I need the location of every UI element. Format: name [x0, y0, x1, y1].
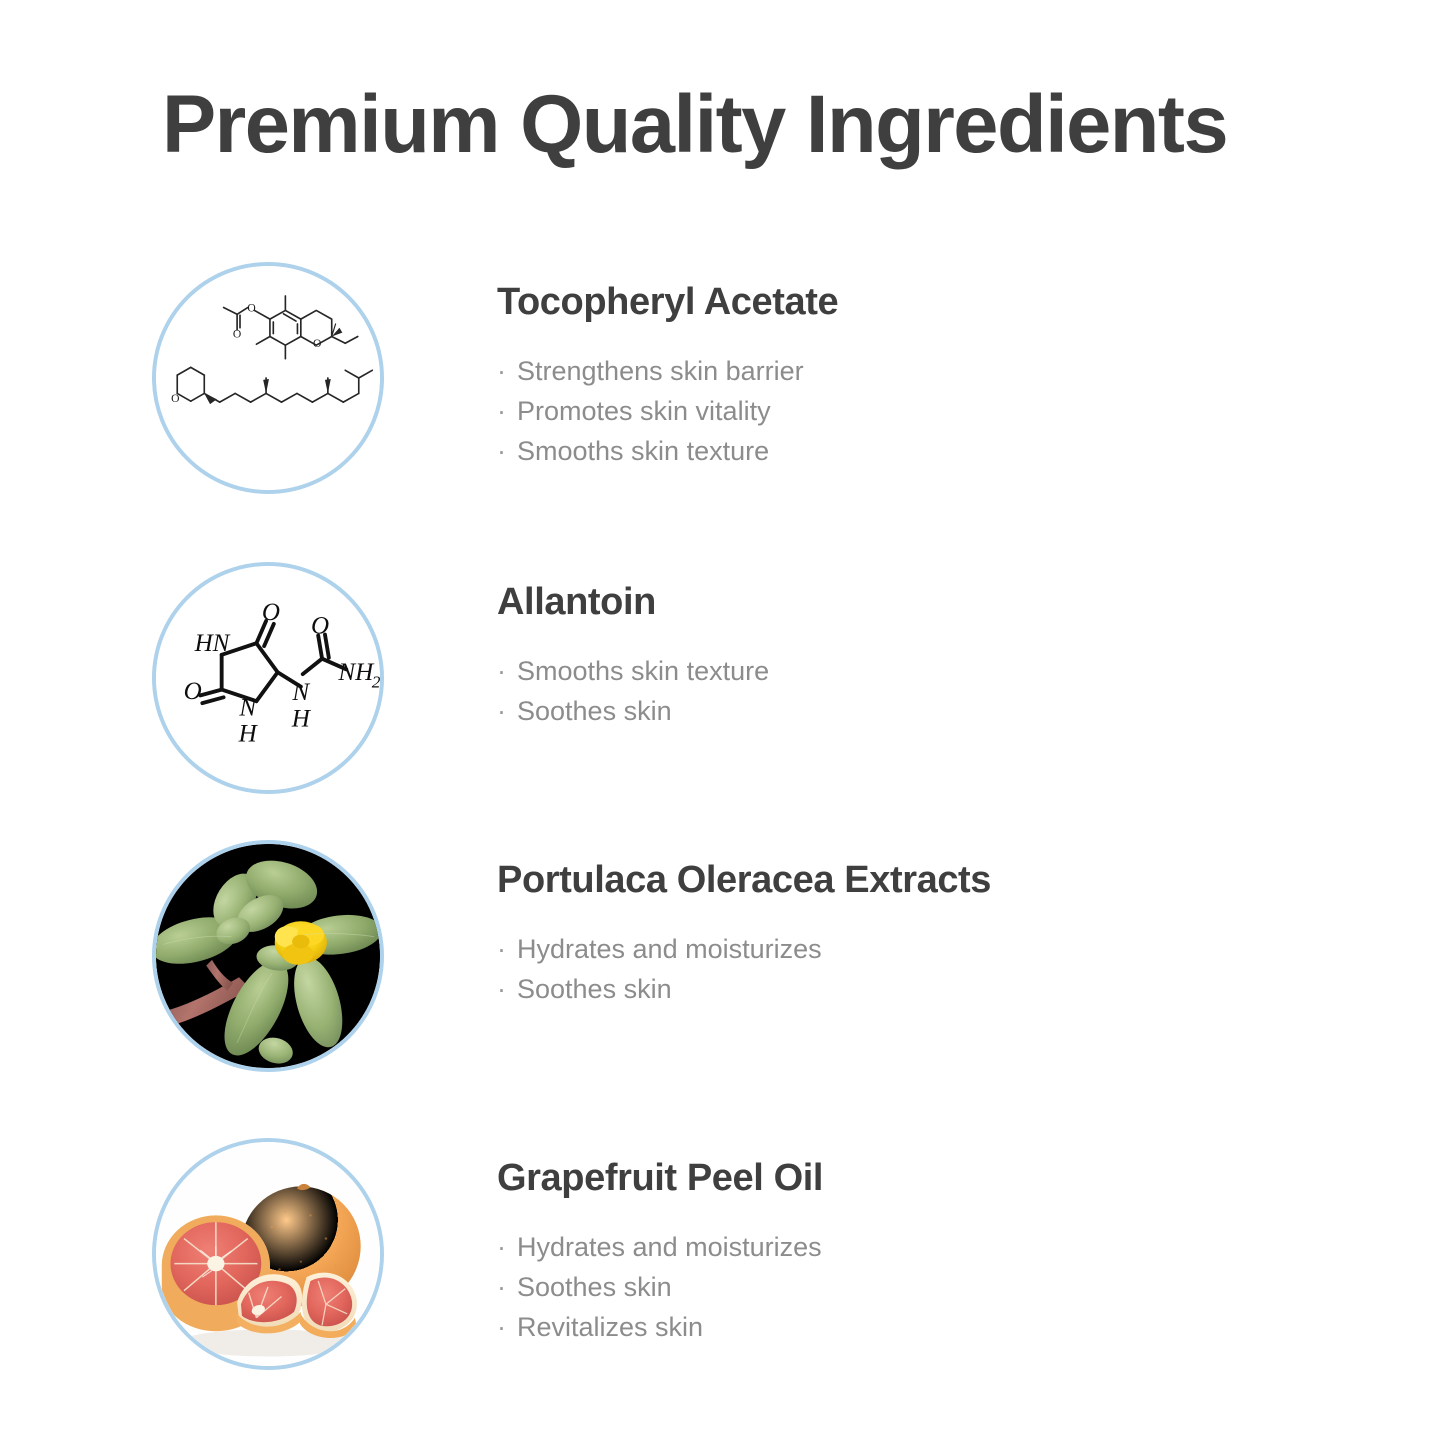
svg-text:O: O [313, 337, 321, 350]
benefit-item: · Hydrates and moisturizes [497, 1228, 1377, 1268]
benefit-item: · Strengthens skin barrier [497, 352, 1377, 392]
purslane-plant-photo [156, 844, 380, 1068]
bullet-icon: · [497, 352, 517, 392]
ingredient-image-portulaca-oleracea [152, 840, 384, 1072]
ingredient-name: Grapefruit Peel Oil [497, 1158, 1377, 1200]
benefit-list: · Strengthens skin barrier · Promotes sk… [497, 352, 1377, 472]
svg-text:H: H [238, 721, 259, 748]
svg-text:HN: HN [194, 630, 231, 657]
molecule-icon-tocopheryl-acetate: O O O O [156, 266, 380, 490]
ingredient-image-tocopheryl-acetate: O O O O [152, 262, 384, 494]
bullet-icon: · [497, 692, 517, 732]
purslane-plant-illustration [156, 844, 380, 1068]
bullet-icon: · [497, 652, 517, 692]
bullet-icon: · [497, 392, 517, 432]
ingredient-image-allantoin: HN O O N H N H O NH 2 [152, 562, 384, 794]
svg-text:O: O [233, 327, 241, 340]
benefit-label: Soothes skin [517, 1268, 672, 1308]
bullet-icon: · [497, 1308, 517, 1348]
molecule-icon-allantoin: HN O O N H N H O NH 2 [156, 566, 380, 790]
svg-text:O: O [247, 301, 255, 314]
ingredient-name: Allantoin [497, 582, 1377, 624]
benefit-label: Revitalizes skin [517, 1308, 703, 1348]
bullet-icon: · [497, 930, 517, 970]
benefit-item: · Soothes skin [497, 692, 1377, 732]
bullet-icon: · [497, 970, 517, 1010]
svg-text:O: O [311, 613, 329, 640]
allantoin-structure-icon: HN O O N H N H O NH 2 [156, 566, 380, 790]
benefit-item: · Soothes skin [497, 970, 1377, 1010]
svg-text:O: O [171, 392, 179, 405]
benefit-label: Smooths skin texture [517, 652, 769, 692]
benefit-label: Smooths skin texture [517, 432, 769, 472]
bullet-icon: · [497, 432, 517, 472]
ingredient-text-block: Portulaca Oleracea Extracts · Hydrates a… [497, 860, 1377, 1010]
grapefruit-fruit-photo [156, 1142, 380, 1366]
ingredient-image-grapefruit-peel-oil [152, 1138, 384, 1370]
grapefruit-illustration [156, 1142, 380, 1366]
benefit-list: · Smooths skin texture · Soothes skin [497, 652, 1377, 732]
benefit-list: · Hydrates and moisturizes · Soothes ski… [497, 930, 1377, 1010]
ingredient-text-block: Tocopheryl Acetate · Strengthens skin ba… [497, 282, 1377, 472]
benefit-label: Strengthens skin barrier [517, 352, 804, 392]
benefit-label: Soothes skin [517, 970, 672, 1010]
benefit-item: · Promotes skin vitality [497, 392, 1377, 432]
ingredients-infographic: Premium Quality Ingredients [0, 0, 1445, 1445]
ingredient-name: Portulaca Oleracea Extracts [497, 860, 1377, 902]
benefit-label: Soothes skin [517, 692, 672, 732]
benefit-item: · Smooths skin texture [497, 652, 1377, 692]
benefit-item: · Hydrates and moisturizes [497, 930, 1377, 970]
ingredient-text-block: Allantoin · Smooths skin texture · Sooth… [497, 582, 1377, 732]
benefit-label: Hydrates and moisturizes [517, 930, 822, 970]
svg-text:N: N [238, 695, 257, 722]
benefit-item: · Revitalizes skin [497, 1308, 1377, 1348]
svg-text:O: O [262, 599, 280, 626]
svg-text:N: N [291, 679, 310, 706]
bullet-icon: · [497, 1228, 517, 1268]
benefit-label: Promotes skin vitality [517, 392, 771, 432]
svg-text:NH: NH [337, 659, 375, 686]
tocopheryl-acetate-structure-icon: O O O O [156, 266, 380, 490]
bullet-icon: · [497, 1268, 517, 1308]
ingredient-text-block: Grapefruit Peel Oil · Hydrates and moist… [497, 1158, 1377, 1348]
ingredient-name: Tocopheryl Acetate [497, 282, 1377, 324]
page-title: Premium Quality Ingredients [162, 82, 1281, 168]
svg-text:O: O [184, 678, 202, 705]
benefit-label: Hydrates and moisturizes [517, 1228, 822, 1268]
svg-text:H: H [291, 705, 312, 732]
benefit-item: · Smooths skin texture [497, 432, 1377, 472]
svg-text:2: 2 [372, 673, 380, 692]
benefit-list: · Hydrates and moisturizes · Soothes ski… [497, 1228, 1377, 1348]
benefit-item: · Soothes skin [497, 1268, 1377, 1308]
